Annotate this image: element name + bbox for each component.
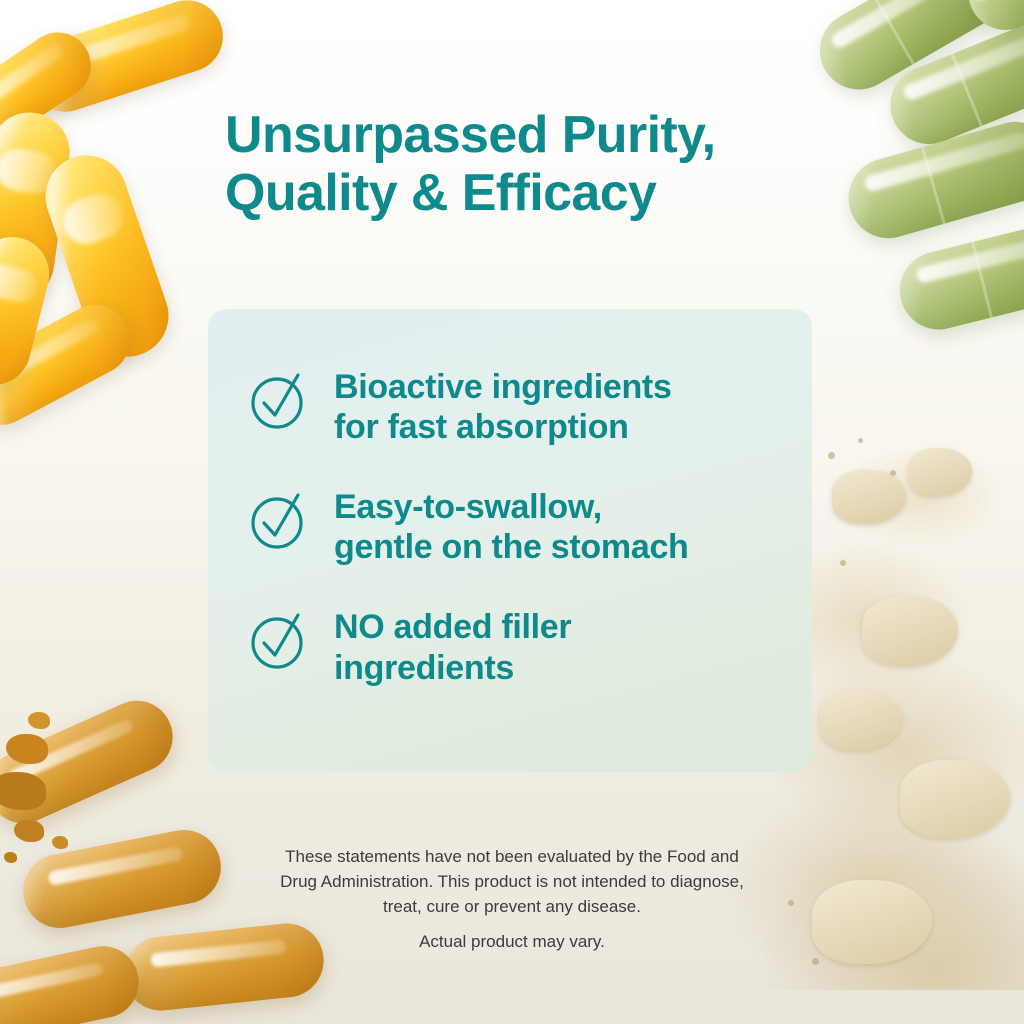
softgel-capsule: [0, 293, 142, 437]
powder-crumb: [14, 820, 44, 842]
powder-crumb: [52, 836, 68, 849]
softgel-capsule: [0, 20, 104, 159]
powder-grain: [858, 438, 863, 443]
benefit-item: Bioactive ingredients for fast absorptio…: [246, 365, 812, 447]
disclaimer-line-1: These statements have not been evaluated…: [206, 845, 818, 870]
powder-clump: [820, 690, 902, 750]
benefit-label: Bioactive ingredients for fast absorptio…: [334, 365, 672, 447]
powder-clump: [900, 760, 1010, 838]
circle-check-icon: [246, 367, 312, 433]
softgel-capsule: [34, 144, 179, 367]
headline-line-2: Quality & Efficacy: [225, 164, 825, 222]
benefit-label: NO added filler ingredients: [334, 605, 571, 687]
softgel-capsule: [0, 107, 75, 306]
green-capsule: [806, 0, 1015, 104]
green-capsule: [879, 10, 1024, 156]
softgel-capsule: [0, 229, 57, 392]
product-infographic: Unsurpassed Purity, Quality & Efficacy B…: [0, 0, 1024, 1024]
benefit-item: Easy-to-swallow, gentle on the stomach: [246, 485, 812, 567]
powder-grain: [828, 452, 835, 459]
powder-clump: [832, 470, 906, 524]
powder-clump: [862, 596, 958, 666]
benefit-line-1: Bioactive ingredients: [334, 367, 672, 407]
actual-product-note: Actual product may vary.: [206, 932, 818, 952]
disclaimer-line-2: Drug Administration. This product is not…: [206, 870, 818, 895]
headline-line-1: Unsurpassed Purity,: [225, 106, 715, 164]
softgel-capsule: [20, 0, 232, 121]
powder-grain: [890, 470, 896, 476]
benefit-line-2: for fast absorption: [334, 407, 672, 447]
powder-crumb: [0, 772, 46, 810]
disclaimer-line-3: treat, cure or prevent any disease.: [206, 895, 818, 920]
benefit-line-2: gentle on the stomach: [334, 527, 689, 567]
benefit-line-1: Easy-to-swallow,: [334, 487, 689, 527]
benefit-line-1: NO added filler: [334, 607, 571, 647]
green-capsule: [953, 0, 1024, 45]
powder-clump: [908, 448, 972, 496]
powder-grain: [840, 560, 846, 566]
powder-crumb: [6, 734, 48, 764]
benefit-line-2: ingredients: [334, 648, 571, 688]
turmeric-capsule: [0, 689, 184, 834]
benefit-label: Easy-to-swallow, gentle on the stomach: [334, 485, 689, 567]
green-capsule: [839, 112, 1024, 247]
circle-check-icon: [246, 487, 312, 553]
benefits-card: Bioactive ingredients for fast absorptio…: [208, 309, 812, 772]
powder-crumb: [4, 852, 17, 863]
turmeric-capsule: [0, 939, 145, 1024]
powder-grain: [812, 958, 819, 965]
green-capsule: [892, 212, 1024, 338]
powder-crumb: [28, 712, 50, 729]
fda-disclaimer: These statements have not been evaluated…: [206, 845, 818, 919]
turmeric-capsule: [17, 824, 227, 935]
powder-clump: [812, 880, 932, 964]
page-title: Unsurpassed Purity, Quality & Efficacy: [225, 106, 825, 222]
circle-check-icon: [246, 607, 312, 673]
benefit-item: NO added filler ingredients: [246, 605, 812, 687]
